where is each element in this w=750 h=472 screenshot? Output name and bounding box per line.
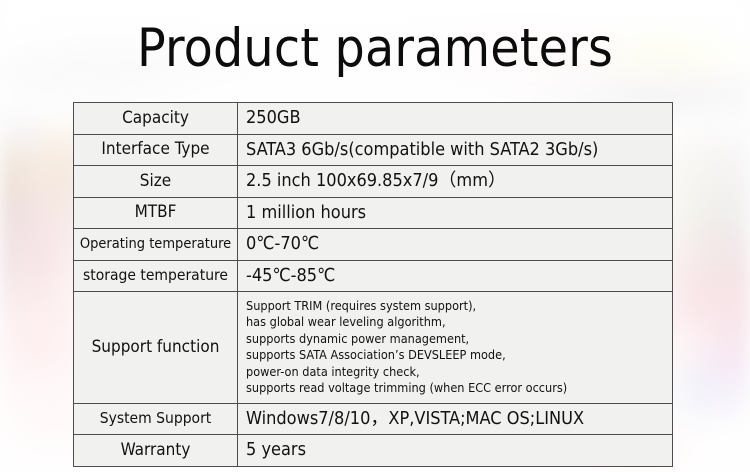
spec-label-system-support: System Support <box>74 403 238 435</box>
page-title: Product parameters <box>0 18 750 81</box>
support-function-line: power-on data integrity check, <box>246 364 672 380</box>
spec-value-support-function: Support TRIM (requires system support), … <box>238 292 673 404</box>
spec-value-operating-temperature: 0℃-70℃ <box>238 229 673 261</box>
spec-value-warranty: 5 years <box>238 435 673 467</box>
spec-value-storage-temperature: -45℃-85℃ <box>238 260 673 292</box>
support-function-line: supports SATA Association’s DEVSLEEP mod… <box>246 347 672 363</box>
table-row: Size 2.5 inch 100x69.85x7/9（mm） <box>74 166 673 198</box>
table-row: Interface Type SATA3 6Gb/s(compatible wi… <box>74 134 673 166</box>
spec-label-operating-temperature: Operating temperature <box>74 229 238 261</box>
table-row: Capacity 250GB <box>74 103 673 135</box>
product-spec-table: Capacity 250GB Interface Type SATA3 6Gb/… <box>73 102 673 467</box>
spec-label-support-function: Support function <box>74 292 238 404</box>
spec-label-interface-type: Interface Type <box>74 134 238 166</box>
spec-label-capacity: Capacity <box>74 103 238 135</box>
support-function-line: has global wear leveling algorithm, <box>246 314 672 330</box>
table-row: Operating temperature 0℃-70℃ <box>74 229 673 261</box>
spec-label-storage-temperature: storage temperature <box>74 260 238 292</box>
spec-value-system-support: Windows7/8/10，XP,VISTA;MAC OS;LINUX <box>238 403 673 435</box>
spec-value-interface-type: SATA3 6Gb/s(compatible with SATA2 3Gb/s) <box>238 134 673 166</box>
table-row: storage temperature -45℃-85℃ <box>74 260 673 292</box>
spec-value-size: 2.5 inch 100x69.85x7/9（mm） <box>238 166 673 198</box>
spec-value-mtbf: 1 million hours <box>238 197 673 229</box>
spec-label-mtbf: MTBF <box>74 197 238 229</box>
table-row: Support function Support TRIM (requires … <box>74 292 673 404</box>
product-parameters-page: Product parameters Capacity 250GB Interf… <box>0 0 750 472</box>
spec-label-warranty: Warranty <box>74 435 238 467</box>
table-row: Warranty 5 years <box>74 435 673 467</box>
spec-label-size: Size <box>74 166 238 198</box>
support-function-line: Support TRIM (requires system support), <box>246 298 672 314</box>
table-row: MTBF 1 million hours <box>74 197 673 229</box>
table-row: System Support Windows7/8/10，XP,VISTA;MA… <box>74 403 673 435</box>
spec-value-capacity: 250GB <box>238 103 673 135</box>
support-function-line: supports read voltage trimming (when ECC… <box>246 380 672 396</box>
support-function-line: supports dynamic power management, <box>246 331 672 347</box>
